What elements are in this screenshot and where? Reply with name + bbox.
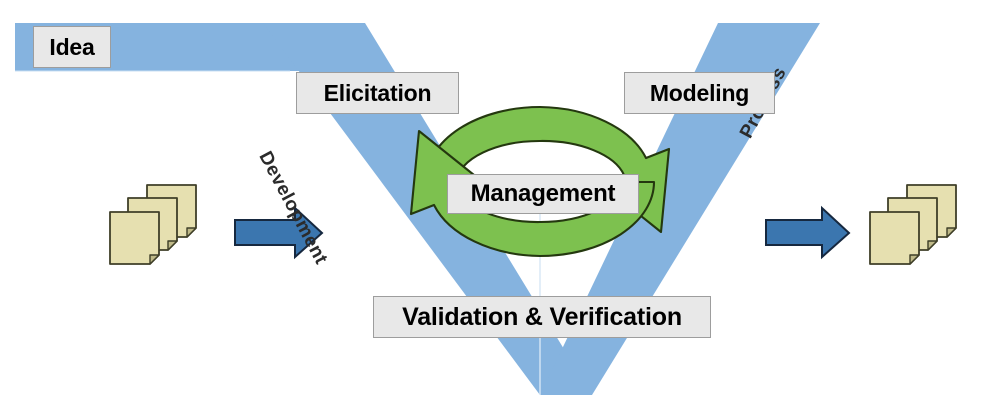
- label-validation-verification: Validation & Verification: [373, 296, 711, 338]
- label-elicitation: Elicitation: [296, 72, 459, 114]
- label-validation-verification-text: Validation & Verification: [402, 303, 682, 332]
- document-fold-front: [910, 255, 919, 264]
- label-modeling-text: Modeling: [650, 80, 749, 107]
- label-idea-text: Idea: [49, 34, 94, 61]
- document-fold-back: [187, 228, 196, 237]
- document-fold-middle: [168, 241, 177, 250]
- label-management: Management: [447, 174, 639, 214]
- diagram-canvas: Idea Elicitation Modeling Management Val…: [0, 0, 982, 416]
- output-arrow: [766, 208, 849, 257]
- label-elicitation-text: Elicitation: [324, 80, 432, 107]
- document-fold-back: [947, 228, 956, 237]
- label-modeling: Modeling: [624, 72, 775, 114]
- output-arrow-group: [766, 208, 849, 257]
- label-idea: Idea: [33, 26, 111, 68]
- document-fold-middle: [928, 241, 937, 250]
- output-document-stack: [870, 185, 956, 264]
- input-document-stack: [110, 185, 196, 264]
- document-fold-front: [150, 255, 159, 264]
- label-management-text: Management: [471, 180, 616, 208]
